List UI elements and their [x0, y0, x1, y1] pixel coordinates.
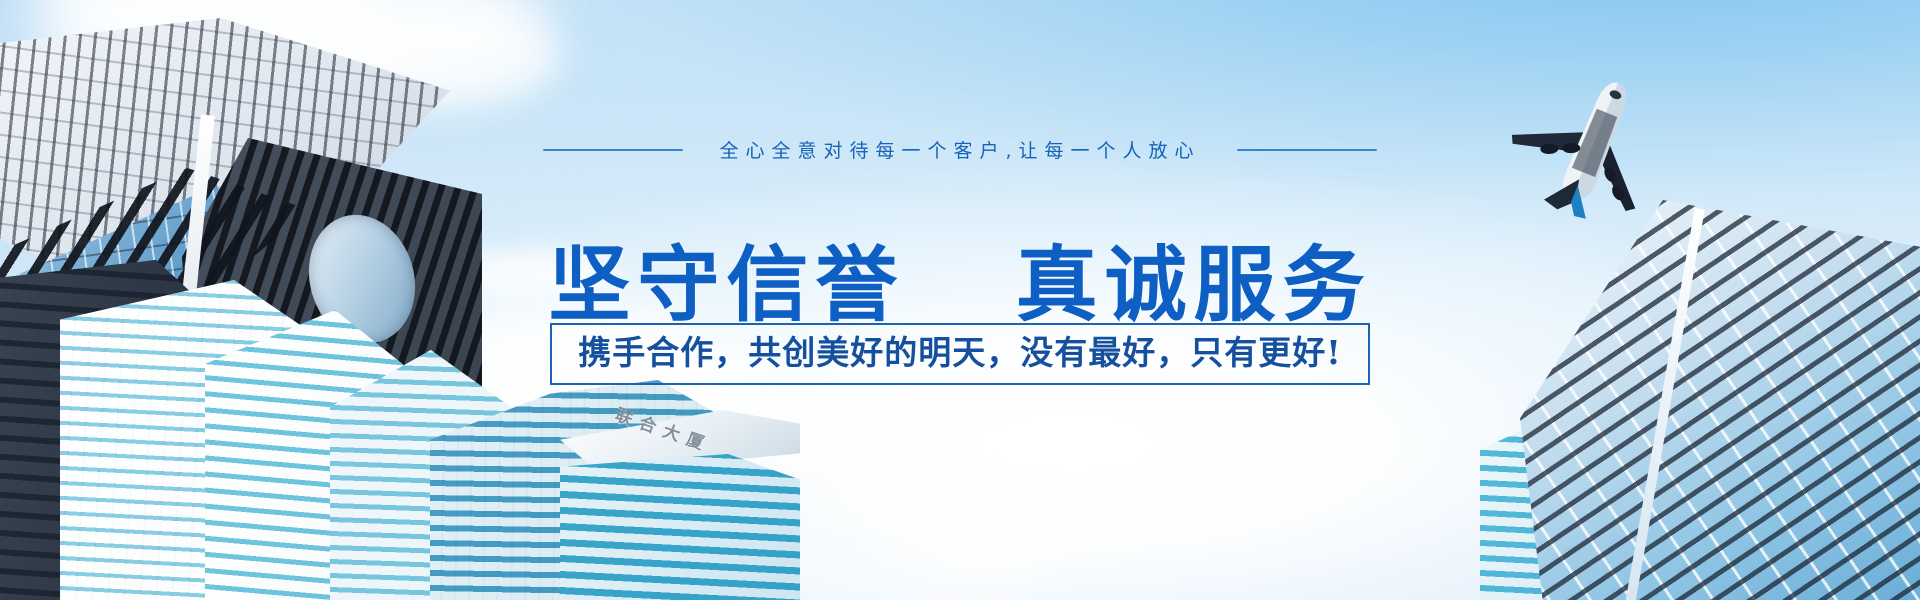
hero-banner: 联合大厦	[0, 0, 1920, 600]
headline-part-2: 真诚服务	[1016, 237, 1372, 333]
headline: 坚守信誉 真诚服务	[0, 241, 1920, 330]
eyebrow-rule-left	[543, 149, 683, 151]
headline-part-1: 坚守信誉	[548, 237, 904, 333]
eyebrow-text: 全心全意对待每一个客户,让每一个人放心	[719, 136, 1200, 163]
united-tower-body	[560, 454, 800, 600]
subtitle-wrapper: 携手合作，共创美好的明天，没有最好，只有更好!	[0, 323, 1920, 385]
eyebrow-rule-right	[1237, 149, 1377, 151]
eyebrow-row: 全心全意对待每一个客户,让每一个人放心	[0, 136, 1920, 163]
building-united-tower: 联合大厦	[560, 410, 800, 600]
subtitle-text: 携手合作，共创美好的明天，没有最好，只有更好!	[578, 334, 1342, 372]
subtitle-box: 携手合作，共创美好的明天，没有最好，只有更好!	[550, 323, 1370, 385]
